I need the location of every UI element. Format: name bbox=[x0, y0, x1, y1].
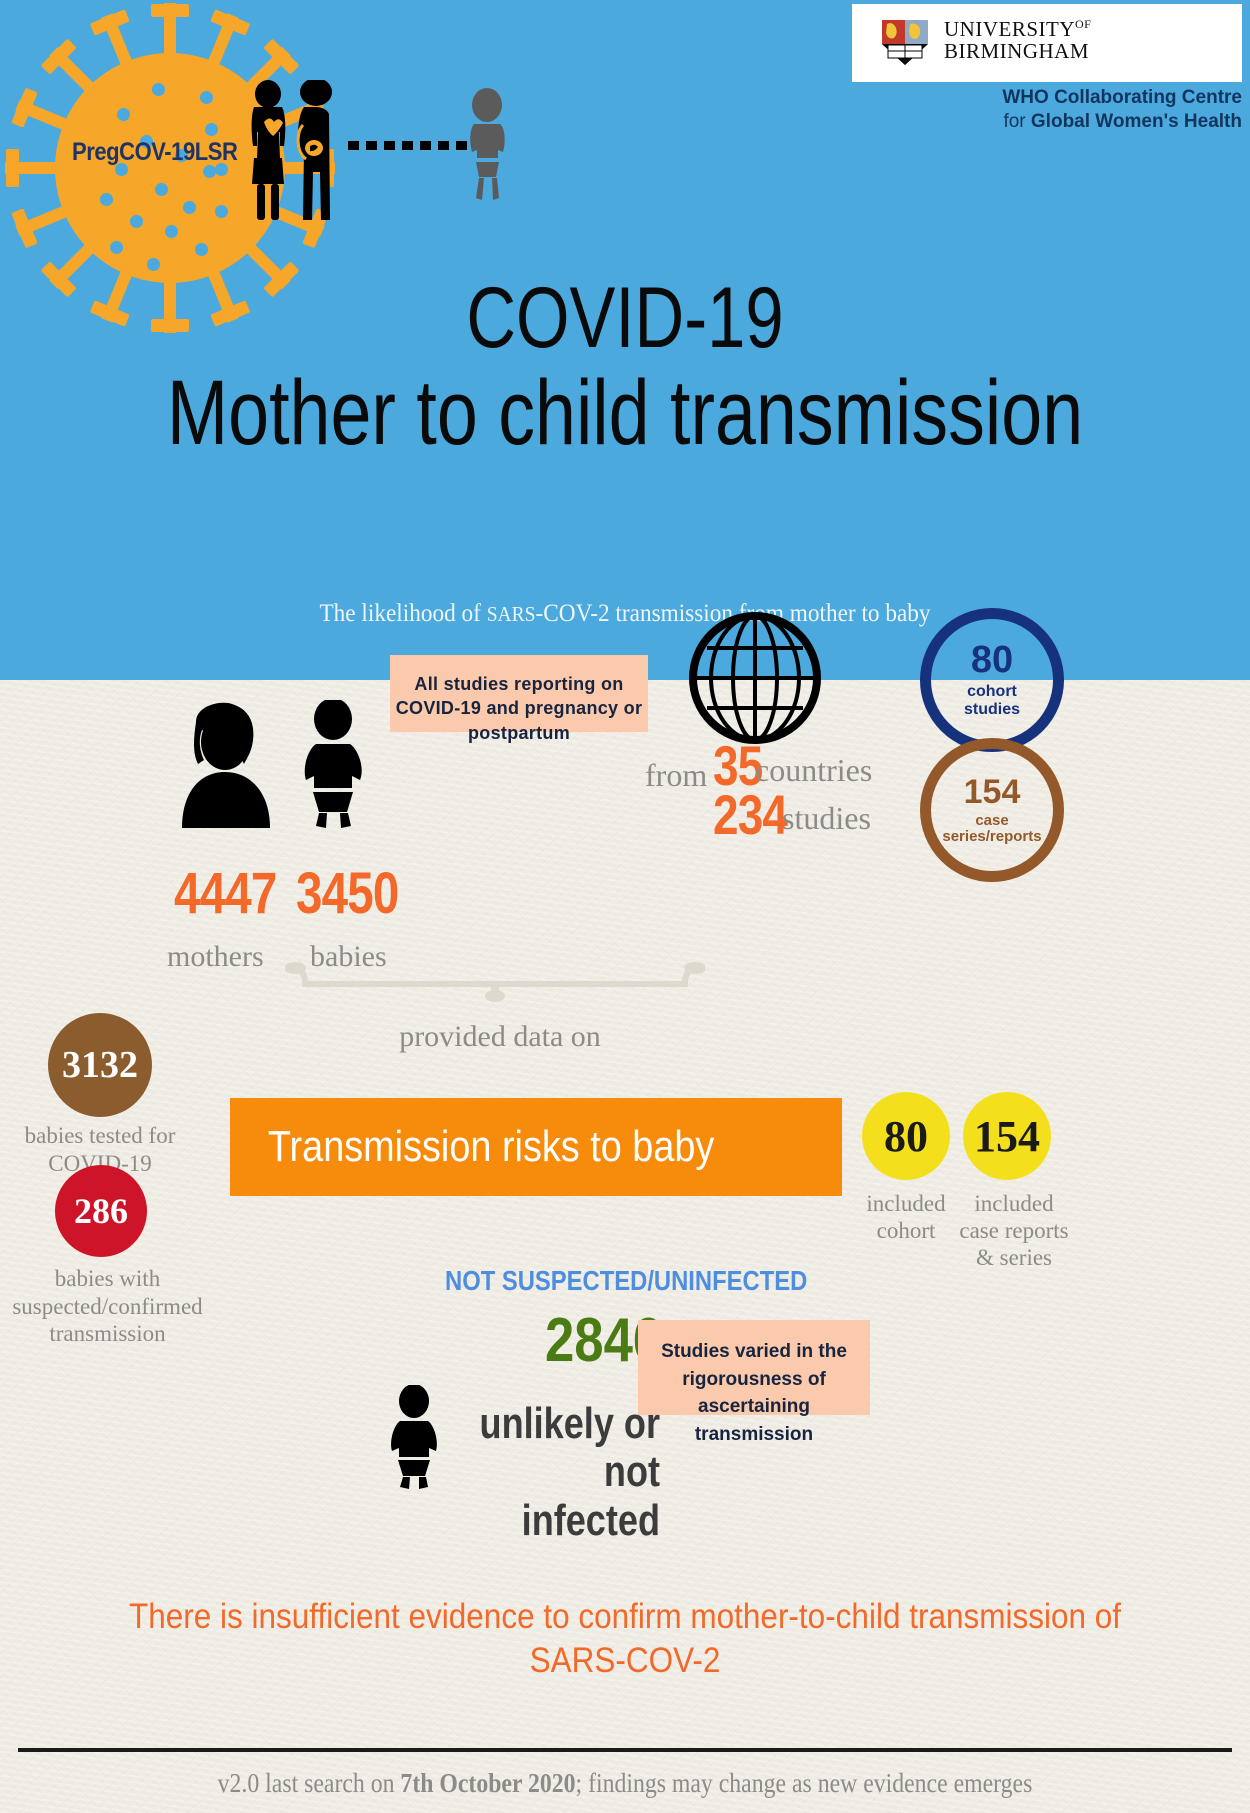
virus-dot bbox=[155, 183, 168, 196]
babies-tested-circle: 3132 bbox=[48, 1013, 152, 1117]
mother-silhouette-icon bbox=[170, 700, 290, 830]
virus-spike bbox=[49, 238, 100, 289]
case-series-ring-label-1: case bbox=[975, 813, 1008, 830]
cohort-ring-label-2: studies bbox=[964, 701, 1020, 719]
virus-dot bbox=[152, 83, 165, 96]
scope-note-box: All studies reporting on COVID-19 and pr… bbox=[390, 655, 648, 732]
infographic-page: PregCOV-19LSR bbox=[0, 0, 1250, 1813]
header-banner: PregCOV-19LSR bbox=[0, 0, 1250, 680]
who-line-2: for Global Women's Health bbox=[852, 110, 1242, 134]
included-case-reports-value: 154 bbox=[974, 1111, 1040, 1162]
mother-baby-illustration bbox=[248, 80, 518, 230]
babies-transmission-value: 286 bbox=[74, 1193, 128, 1229]
conclusion-line-2: SARS-COV-2 bbox=[63, 1639, 1188, 1683]
studies-count-value: 234 bbox=[713, 787, 787, 843]
babies-count-value: 3450 bbox=[296, 865, 411, 923]
studies-label: studies bbox=[782, 800, 871, 837]
footer-date: 7th October 2020 bbox=[400, 1768, 575, 1798]
virus-dot bbox=[205, 123, 218, 136]
footer-divider bbox=[18, 1748, 1232, 1752]
studies-rigour-note-box: Studies varied in the rigorousness of as… bbox=[638, 1320, 870, 1415]
cohort-studies-ring: 80 cohort studies bbox=[920, 608, 1064, 752]
virus-dot bbox=[130, 215, 143, 228]
brace-connector bbox=[285, 962, 705, 1010]
subtitle-smallcaps: SARS bbox=[487, 602, 536, 626]
provided-data-on-label: provided data on bbox=[0, 1020, 1000, 1054]
virus-dot bbox=[200, 91, 213, 104]
virus-dot bbox=[100, 193, 113, 206]
babies-transmission-circle: 286 bbox=[55, 1165, 147, 1257]
virus-dot bbox=[147, 258, 160, 271]
globe-icon bbox=[685, 608, 825, 748]
included-case-reports-label-3: & series bbox=[940, 1244, 1088, 1271]
footer-note: v2.0 last search on 7th October 2020; fi… bbox=[75, 1768, 1175, 1799]
unlikely-label-line-1: unlikely or not bbox=[447, 1400, 660, 1497]
unlikely-or-not-infected-label: unlikely or not infected bbox=[447, 1400, 660, 1545]
unlikely-label-line-2: infected bbox=[447, 1497, 660, 1545]
footer-post: ; findings may change as new evidence em… bbox=[576, 1768, 1033, 1798]
not-suspected-heading: NOT SUSPECTED/UNINFECTED bbox=[445, 1265, 828, 1297]
virus-dot bbox=[183, 201, 196, 214]
title-line-1: COVID-19 bbox=[466, 270, 783, 366]
baby-silhouette-icon bbox=[296, 700, 371, 830]
included-case-reports-circle: 154 bbox=[963, 1092, 1051, 1180]
case-series-ring-value: 154 bbox=[964, 775, 1021, 809]
case-series-ring: 154 case series/reports bbox=[920, 738, 1064, 882]
mother-holding-baby-icon bbox=[252, 80, 286, 220]
virus-spike bbox=[164, 3, 176, 63]
cohort-ring-value: 80 bbox=[971, 641, 1013, 679]
virus-dot bbox=[117, 108, 130, 121]
university-of-sup: OF bbox=[1075, 17, 1091, 31]
page-title: COVID-19 Mother to child transmission bbox=[125, 275, 1125, 461]
mothers-count-label: mothers bbox=[167, 940, 264, 974]
subtitle-pre: The likelihood of bbox=[319, 600, 486, 627]
included-case-reports-label-2: case reports bbox=[940, 1217, 1088, 1244]
who-line-1: WHO Collaborating Centre bbox=[852, 86, 1242, 110]
virus-spike bbox=[5, 162, 65, 174]
who-line-2-bold: Global Women's Health bbox=[1031, 111, 1242, 132]
babies-transmission-label: babies with suspected/confirmed transmis… bbox=[0, 1265, 215, 1348]
university-line1: UNIVERSITY bbox=[944, 17, 1075, 41]
cohort-ring-label-1: cohort bbox=[967, 683, 1017, 701]
included-cohort-circle: 80 bbox=[862, 1092, 950, 1180]
from-label: from bbox=[645, 757, 707, 794]
title-line-2: Mother to child transmission bbox=[125, 367, 1125, 461]
case-series-ring-label-2: series/reports bbox=[942, 829, 1041, 846]
virus-dot bbox=[110, 241, 123, 254]
transmission-risks-banner-title: Transmission risks to baby bbox=[230, 1122, 714, 1172]
university-name: UNIVERSITYOF BIRMINGHAM bbox=[944, 18, 1091, 62]
university-logo-box: UNIVERSITYOF BIRMINGHAM bbox=[852, 4, 1242, 82]
conclusion-statement: There is insufficient evidence to confir… bbox=[63, 1595, 1188, 1683]
virus-dot bbox=[215, 205, 228, 218]
university-line2: BIRMINGHAM bbox=[944, 40, 1091, 62]
virus-dot bbox=[165, 225, 178, 238]
uninfected-baby-icon bbox=[385, 1385, 443, 1490]
babies-tested-value: 3132 bbox=[62, 1046, 138, 1084]
footer-pre: v2.0 last search on bbox=[218, 1768, 401, 1798]
who-line-2-prefix: for bbox=[1003, 111, 1030, 132]
grey-baby-icon bbox=[470, 88, 504, 200]
virus-dot bbox=[195, 243, 208, 256]
included-case-reports-label-1: included bbox=[940, 1190, 1088, 1217]
who-collaborating-centre-text: WHO Collaborating Centre for Global Wome… bbox=[852, 86, 1242, 134]
virus-spike bbox=[49, 47, 100, 98]
university-crest-icon bbox=[879, 18, 931, 68]
transmission-risks-banner: Transmission risks to baby bbox=[230, 1098, 842, 1196]
mothers-count-value: 4447 bbox=[174, 865, 289, 923]
people-svg bbox=[248, 80, 518, 230]
conclusion-line-1: There is insufficient evidence to confir… bbox=[63, 1595, 1188, 1639]
project-brand-name: PregCOV-19LSR bbox=[72, 138, 237, 167]
dotted-transmission-line bbox=[348, 141, 467, 150]
included-cohort-value: 80 bbox=[884, 1111, 928, 1162]
included-case-reports-label: included case reports & series bbox=[940, 1190, 1088, 1271]
